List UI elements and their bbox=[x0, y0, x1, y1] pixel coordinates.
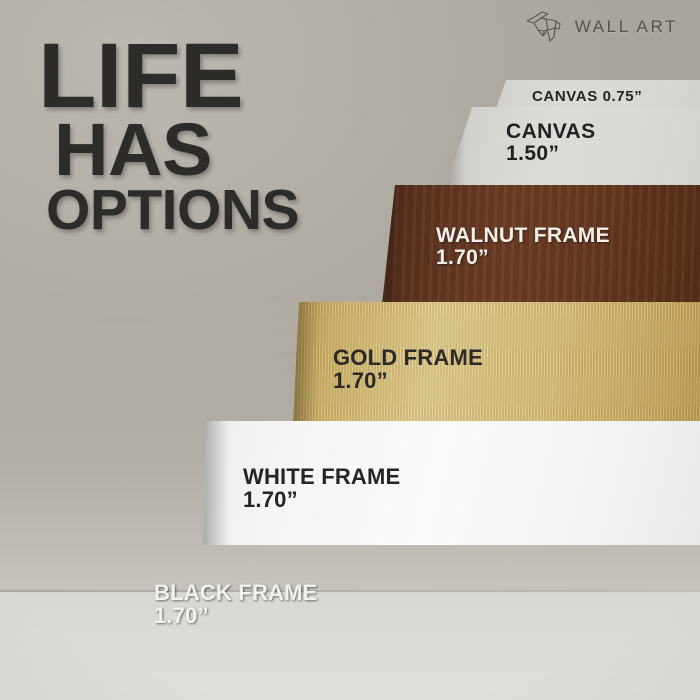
brand-logo: WALL ART bbox=[522, 10, 678, 44]
layer-label-canvas-0-75: CANVAS 0.75” bbox=[532, 89, 642, 105]
layer-canvas-1-50[interactable]: CANVAS 1.50” bbox=[440, 107, 700, 187]
headline-line-2: HAS bbox=[54, 119, 374, 181]
headline-line-1: LIFE bbox=[38, 38, 381, 115]
layer-label-black-frame: BLACK FRAME 1.70” bbox=[154, 581, 318, 628]
headline-block: LIFE HAS OPTIONS bbox=[38, 38, 368, 235]
layer-label-white-frame: WHITE FRAME 1.70” bbox=[243, 465, 400, 512]
layer-label-gold-frame: GOLD FRAME 1.70” bbox=[333, 346, 483, 393]
layer-walnut-frame[interactable]: WALNUT FRAME 1.70” bbox=[376, 185, 700, 305]
layer-gold-frame[interactable]: GOLD FRAME 1.70” bbox=[293, 302, 700, 424]
origami-goat-icon bbox=[522, 10, 566, 44]
layer-white-frame[interactable]: WHITE FRAME 1.70” bbox=[203, 421, 700, 545]
brand-name: WALL ART bbox=[575, 17, 678, 37]
layer-label-walnut-frame: WALNUT FRAME 1.70” bbox=[436, 225, 610, 270]
headline-line-3: OPTIONS bbox=[46, 187, 368, 235]
layer-black-frame[interactable]: BLACK FRAME 1.70” bbox=[112, 545, 700, 676]
layer-label-canvas-1-50: CANVAS 1.50” bbox=[506, 121, 596, 166]
product-options-poster: LIFE HAS OPTIONS WALL ART CANVAS 0.75” C… bbox=[0, 0, 700, 700]
layer-edge-shading bbox=[203, 421, 229, 545]
